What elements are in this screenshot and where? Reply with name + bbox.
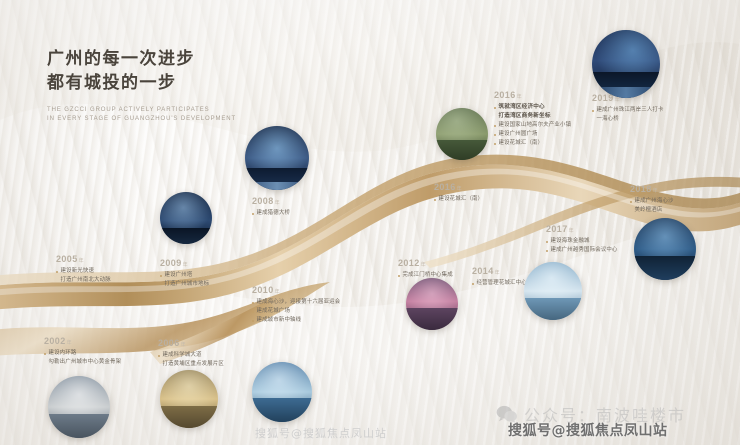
item-text: 筑就湾区经济中心 <box>494 103 571 112</box>
photo-bay-business-center[interactable] <box>436 108 488 160</box>
photo-tianhe-district[interactable] <box>160 370 218 428</box>
node-haixinsha-hotel[interactable] <box>634 218 696 280</box>
node-financial-city[interactable] <box>406 278 458 330</box>
item-text: 建设广州圆广场 <box>494 130 571 139</box>
headline-line-2: 都有城投的一步 <box>47 71 236 95</box>
label-zhujiang-newtown: 2002年 建设内环路 勾勒出广州城市中心黄金骨架 <box>44 336 121 367</box>
year-2017: 2017年 <box>546 224 618 237</box>
photo-zhujiang-newtown[interactable] <box>48 376 110 438</box>
year-2014: 2014年 <box>472 266 527 279</box>
item-text: 经营管理花城汇中心 <box>472 279 527 288</box>
item-text: 打造湾区商务新坐标 <box>494 112 571 121</box>
year-2006: 2006年 <box>158 338 224 351</box>
label-flower-city-square: 2014年 经营管理花城汇中心 <box>472 266 527 288</box>
headline-line-1: 广州的每一次进步 <box>47 47 236 71</box>
label-canton-tower: 2009年 建设广州塔 打造广州城市地标 <box>160 258 209 289</box>
node-haixinsha[interactable] <box>252 362 312 422</box>
year-2010: 2010年 <box>252 285 340 298</box>
year-2005: 2005年 <box>56 254 111 267</box>
item-text: 建设海珠金融城 <box>546 237 618 246</box>
label-liede-bridge: 2008年 建成猎德大桥 <box>252 196 290 218</box>
item-text: 建成海心沙，迎接第十六届亚运会 <box>252 298 340 307</box>
year-2018: 2018年 <box>630 184 674 197</box>
label-pearl-river-nightscape: 2019年 建成广州珠江两岸三人打卡 一海心桥 <box>592 93 664 124</box>
photo-haixinsha[interactable] <box>252 362 312 422</box>
node-liede-bridge[interactable] <box>245 126 309 190</box>
item-text: 建设广州塔 <box>160 271 209 280</box>
headline-en-2: IN EVERY STAGE OF GUANGZHOU'S DEVELOPMEN… <box>47 115 236 124</box>
label-flower-city-south: 2016年 建设花城汇（南） <box>434 182 483 204</box>
year-2002: 2002年 <box>44 336 121 349</box>
label-financial-city: 2012年 完成江门桥中心集成 <box>398 258 453 280</box>
item-text: 美岭檀酒店 <box>630 206 674 215</box>
item-text: 建成花城广场 <box>252 307 340 316</box>
headline-block: 广州的每一次进步 都有城投的一步 THE GZCCI GROUP ACTIVEL… <box>47 47 236 124</box>
item-text: 建设国家山地高尔夫产业小镇 <box>494 121 571 130</box>
label-haixinsha-hotel: 2018年 建成广州海心沙 美岭檀酒店 <box>630 184 674 215</box>
item-text: 建成广州越秀国际会议中心 <box>546 246 618 255</box>
item-text: 建设新光快速 <box>56 267 111 276</box>
infographic-canvas: 广州的每一次进步 都有城投的一步 THE GZCCI GROUP ACTIVEL… <box>0 0 740 445</box>
headline-en-1: THE GZCCI GROUP ACTIVELY PARTICIPATES <box>47 106 236 115</box>
item-text: 一海心桥 <box>592 115 664 124</box>
item-text: 建设内环路 <box>44 349 121 358</box>
node-zhujiang-newtown[interactable] <box>48 376 110 438</box>
label-bay-business-center: 2016年 筑就湾区经济中心 打造湾区商务新坐标 建设国家山地高尔夫产业小镇 建… <box>494 90 571 148</box>
year-2012: 2012年 <box>398 258 453 271</box>
item-text: 建成城市新中轴线 <box>252 316 340 325</box>
item-text: 建成广州珠江两岸三人打卡 <box>592 106 664 115</box>
photo-flower-city-square[interactable] <box>524 262 582 320</box>
year-2016: 2016年 <box>494 90 571 103</box>
item-text: 勾勒出广州城市中心黄金骨架 <box>44 358 121 367</box>
node-tianhe-district[interactable] <box>160 370 218 428</box>
item-text: 建设花城汇（南） <box>494 139 571 148</box>
sohu-watermark-secondary: 搜狐号@搜狐焦点凤山站 <box>255 425 387 441</box>
photo-haixinsha-hotel[interactable] <box>634 218 696 280</box>
item-text: 打造广州南北大动脉 <box>56 276 111 285</box>
node-flower-city-square[interactable] <box>524 262 582 320</box>
photo-canton-tower[interactable] <box>160 192 212 244</box>
item-text: 打造广州城市地标 <box>160 280 209 289</box>
node-pearl-river-nightscape[interactable] <box>592 30 660 98</box>
item-text: 打造黄埔区重点发展片区 <box>158 360 224 369</box>
year-2016-sub: 2016年 <box>434 182 483 195</box>
photo-financial-city[interactable] <box>406 278 458 330</box>
year-2008: 2008年 <box>252 196 290 209</box>
photo-pearl-river-nightscape[interactable] <box>592 30 660 98</box>
item-text: 建成科学城大道 <box>158 351 224 360</box>
node-canton-tower[interactable] <box>160 192 212 244</box>
label-haixinsha: 2010年 建成海心沙，迎接第十六届亚运会 建成花城广场 建成城市新中轴线 <box>252 285 340 325</box>
item-text: 建成猎德大桥 <box>252 209 290 218</box>
photo-liede-bridge[interactable] <box>245 126 309 190</box>
label-guangzhou-tower-light: 2005年 建设新光快速 打造广州南北大动脉 <box>56 254 111 285</box>
year-2009: 2009年 <box>160 258 209 271</box>
year-2019: 2019年 <box>592 93 664 106</box>
headline-subtitle: THE GZCCI GROUP ACTIVELY PARTICIPATES IN… <box>47 106 236 124</box>
label-haizhu-financial: 2017年 建设海珠金融城 建成广州越秀国际会议中心 <box>546 224 618 255</box>
item-text: 建成广州海心沙 <box>630 197 674 206</box>
node-bay-business-center[interactable] <box>436 108 488 160</box>
label-tianhe-district: 2006年 建成科学城大道 打造黄埔区重点发展片区 <box>158 338 224 369</box>
sohu-watermark: 搜狐号@搜狐焦点凤山站 <box>508 420 668 440</box>
item-text: 建设花城汇（南） <box>434 195 483 204</box>
